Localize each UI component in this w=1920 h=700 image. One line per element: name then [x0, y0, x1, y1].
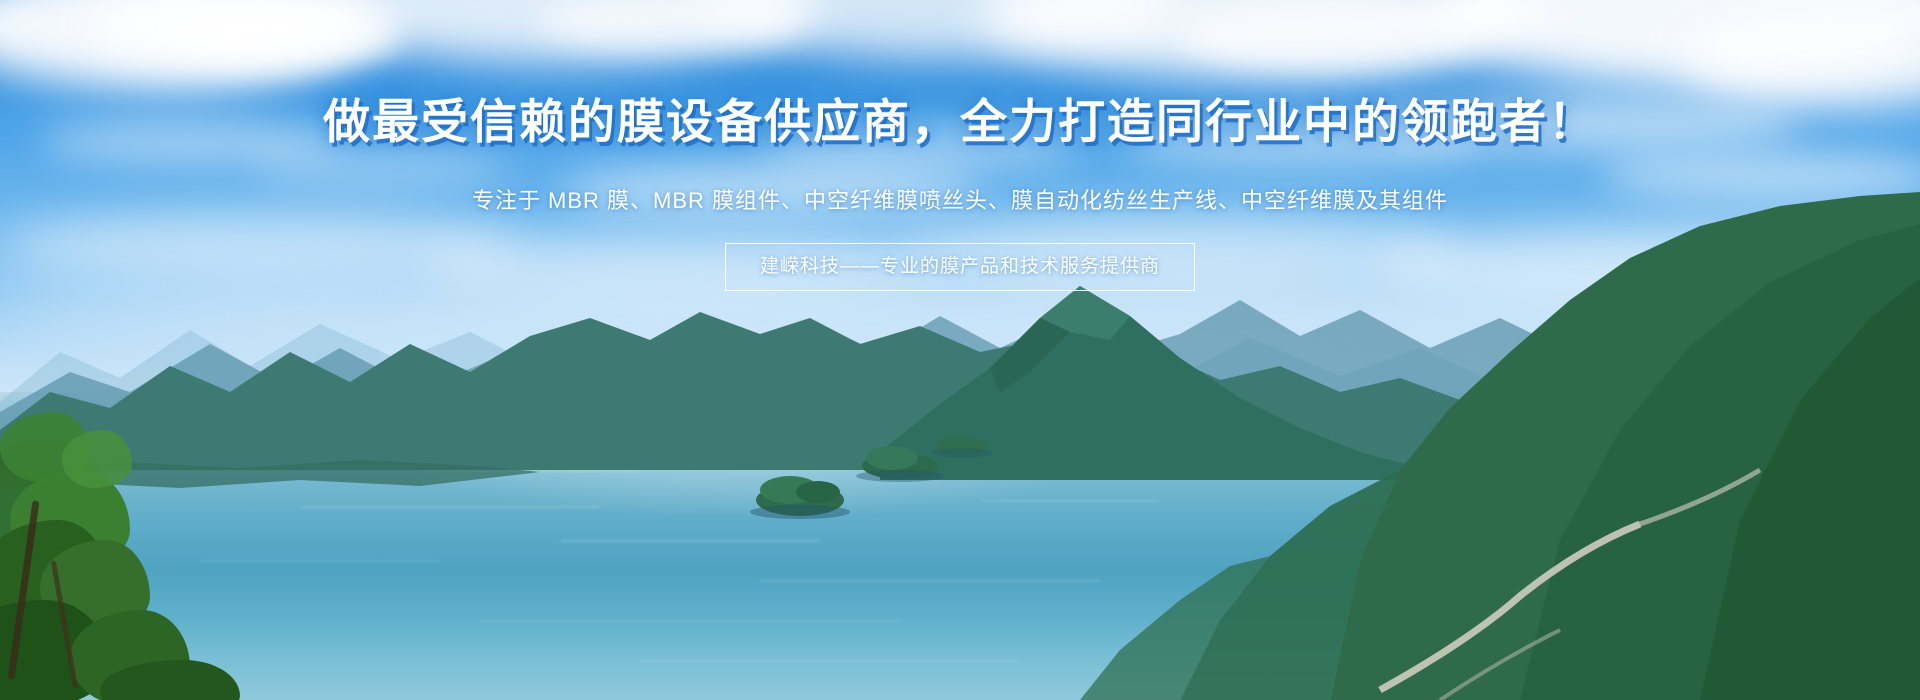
banner-tagline-container: 建嵘科技——专业的膜产品和技术服务提供商	[0, 243, 1920, 291]
banner-headline: 做最受信赖的膜设备供应商，全力打造同行业中的领跑者！	[0, 96, 1920, 148]
hero-banner: 做最受信赖的膜设备供应商，全力打造同行业中的领跑者！ 专注于 MBR 膜、MBR…	[0, 0, 1920, 700]
banner-subheadline: 专注于 MBR 膜、MBR 膜组件、中空纤维膜喷丝头、膜自动化纺丝生产线、中空纤…	[0, 186, 1920, 216]
banner-tagline-box: 建嵘科技——专业的膜产品和技术服务提供商	[725, 243, 1195, 291]
banner-copy: 做最受信赖的膜设备供应商，全力打造同行业中的领跑者！ 专注于 MBR 膜、MBR…	[0, 0, 1920, 700]
